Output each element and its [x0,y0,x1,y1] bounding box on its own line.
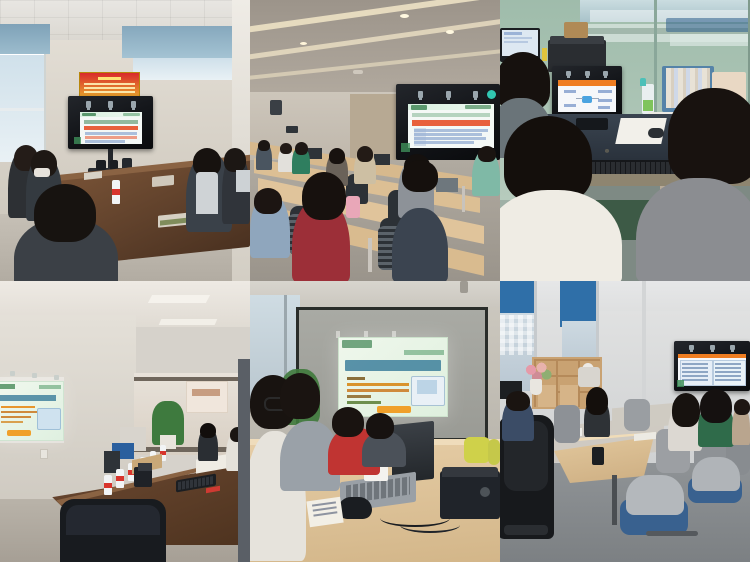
display-screen-content [678,354,746,386]
slide-computer-illustration [37,408,61,430]
slide-line-1 [347,383,409,386]
attendee-2-2-hair [280,143,292,154]
attendee-2-8-hair [302,172,346,220]
mindmap-node-1 [564,90,576,93]
mindmap-link-2 [592,98,599,99]
wall-projection-slide [0,381,64,441]
interactive-display[interactable] [674,341,750,391]
slide-logo-right [39,385,61,389]
slide-bullet-2 [1,411,41,413]
attendee-right-1-shirt [196,172,218,214]
desk-phone-top [138,463,152,471]
desktop-monitor [552,66,622,118]
slide-title-text [345,360,441,371]
attendee-2-9 [392,208,448,281]
laptop-2 [374,154,390,165]
table-leg [612,475,617,525]
doc-lines-left [682,363,708,365]
slide-title-text [0,395,56,401]
screen-corner-badge [74,137,81,144]
secondary-monitor-row-3 [504,41,528,43]
slide-logo [0,384,15,389]
tv-screen-content [80,112,142,144]
notepad [306,497,343,527]
window-1-tiles [500,315,534,355]
mindmap-node-3 [598,90,612,93]
slide-line-3 [347,395,371,398]
drink-cup [346,196,360,218]
attendee-2-9-hair [402,160,438,192]
downlight-2 [446,30,454,34]
photo-panel-top-left: Attendees seated around a dark wooden co… [0,0,250,281]
projector-lens [480,487,490,497]
person-right-hair [668,88,750,184]
mindmap-link-1 [576,98,583,99]
yellow-chair-2[interactable] [488,439,500,465]
thermos [592,447,604,465]
slide-bullet-3 [1,416,31,418]
av-box-1 [96,160,106,170]
photo-collage: Attendees seated around a dark wooden co… [0,0,750,562]
face-mask [34,168,50,177]
slide-computer-screen [417,380,437,394]
photo-panel-bottom-left: Long dark wooden boardroom table with ro… [0,281,250,562]
photo-panel-bottom-right: Bright meeting room with tall windows an… [500,281,750,562]
attendee-5-3-hair [332,407,364,437]
mindmap-center-node [582,96,592,103]
blue-chair-back-1 [626,475,684,515]
projection-dots [10,371,15,376]
computer-mouse [648,128,664,138]
attendee-foreground-hair [34,184,96,242]
partition-frosted-band-3 [670,34,750,46]
photo-panel-top-middle: Wide training room with long light-wood … [250,0,500,281]
slide-cta-button [7,430,31,436]
attendee-6-4-hair [700,389,732,423]
monitor-screen-content [558,80,616,112]
slide-logo [342,340,372,348]
blue-chair-back-2 [692,457,740,491]
ceiling-light-1 [148,295,210,303]
secondary-monitor-row-2 [504,37,532,39]
doc-lines-right [715,363,741,365]
photo-panel-bottom-middle: Participants seated along a light wood t… [250,281,500,562]
computer-mouse[interactable] [338,497,372,519]
executive-chair-back [66,505,160,535]
photo-panel-top-right: Three men viewed from behind crowded aro… [500,0,750,281]
ceiling-light-2 [159,319,218,325]
projector-top [442,467,498,477]
foreground-figure-right [238,359,250,562]
sanitizer-label [643,100,653,111]
wall-poster-blue [666,18,750,32]
attendee-2-5-hair [357,146,373,162]
attendee-6-3-hair [672,393,700,427]
chair-base [504,525,548,535]
slide-cta-button [377,406,411,413]
projected-slide [338,337,448,417]
ceiling-fixture [460,281,468,293]
shelf-drawer-2 [560,385,578,407]
mindmap-node-4 [598,99,612,102]
window-right [133,58,233,80]
slide-bullet-1 [1,406,35,408]
chair-base-2 [646,531,698,536]
attendee-right-2-hair [224,148,246,172]
attendee-6-5-hair [734,399,750,415]
wall-display-tv [68,96,153,149]
screen-corner-badge [401,143,410,152]
flower-vase [530,379,542,395]
attendee-2-3-hair [295,142,308,155]
slide-logo-right [404,350,444,355]
window-mullion-2 [0,108,44,111]
attendee-2-7-hair [254,188,282,214]
mindmap-node-5 [598,106,610,109]
slide-line-2 [347,389,409,392]
attendee-6-1-hair [506,391,530,411]
yellow-chair-1[interactable] [464,437,490,463]
desk-speaker [576,118,608,130]
slide-line-0 [347,377,365,380]
water-bottle-6 [104,475,112,495]
attendee-2-1-hair [258,140,270,151]
roller-blind-left [0,24,50,54]
attendee-right-3 [236,170,250,192]
display-toolbar [678,354,746,358]
slide-bullet-4 [1,421,23,423]
water-bottle-5 [116,469,124,488]
downlight-3 [300,42,307,45]
attendee-5-2-hair [280,373,320,419]
decor-object [578,367,600,387]
led-screen-content [408,104,494,148]
downlight-1 [400,14,409,18]
attendee-6-2-hair [586,387,608,415]
roller-blind-right [122,26,240,58]
desk-leg-2 [462,186,465,212]
secondary-monitor-row-1 [504,32,522,35]
attendee-4-1-hair [200,423,216,438]
back-wall-panel [186,381,228,413]
laptop-3 [436,178,458,192]
mindmap-toolbar [558,80,616,86]
mindmap-node-2 [564,104,576,107]
screen-status-dot [487,90,496,99]
wall-speaker [270,100,282,115]
mesh-chair-1[interactable] [554,405,580,443]
water-bottle [112,180,120,204]
back-wall-sign [192,389,220,396]
sticky-note [542,48,547,61]
desk-leg-3 [368,238,372,272]
attendee-2-4-hair [329,148,345,164]
attendee-5-4-hair [366,413,394,439]
cable-2 [400,517,460,533]
ceiling-projector [286,126,298,133]
display-corner-badge [677,380,684,387]
honor-banner [79,72,140,98]
ceiling-vent [353,70,363,74]
mesh-chair-2[interactable] [624,399,650,431]
wall-socket [40,449,48,459]
cardboard-box [564,22,588,38]
presenter-hair [478,146,496,162]
sanitizer-pump [640,78,646,86]
slide-line-4 [347,401,381,404]
